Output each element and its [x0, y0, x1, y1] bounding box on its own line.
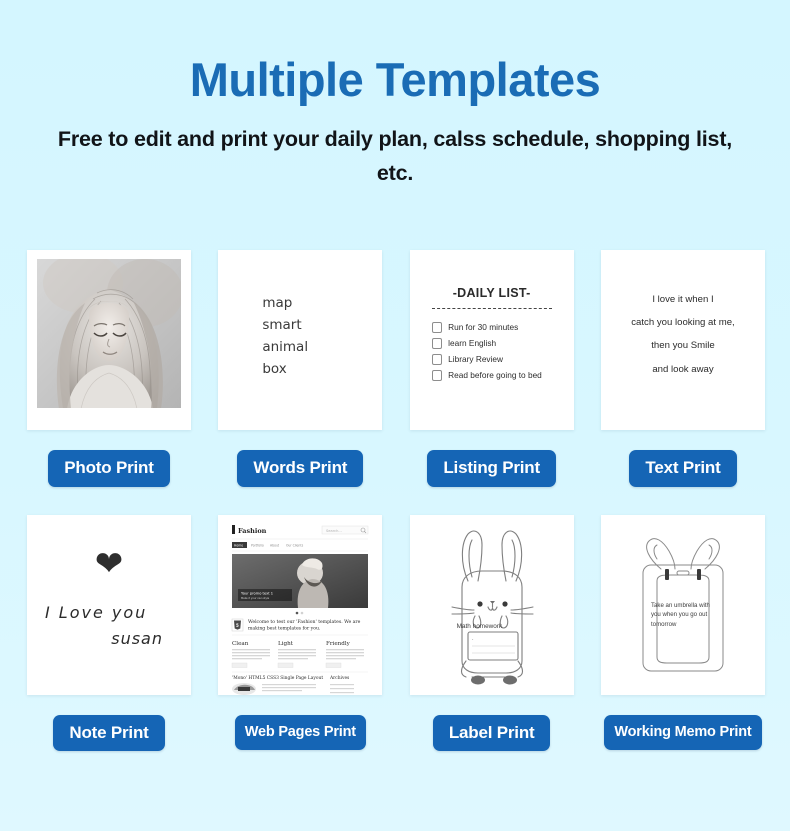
- preview-card-working-memo-print[interactable]: Take an umbrella with you when you go ou…: [601, 515, 765, 695]
- svg-text:Home: Home: [234, 543, 243, 547]
- preview-card-label-print[interactable]: · Math homework: [410, 515, 574, 695]
- template-row-1: Photo Print map smart animal box Words P…: [27, 250, 765, 487]
- checkbox-icon: [432, 370, 443, 381]
- svg-text:Friendly: Friendly: [326, 641, 351, 647]
- word-item: smart: [262, 315, 308, 337]
- preview-card-words-print[interactable]: map smart animal box: [218, 250, 382, 430]
- svg-text:making best templates for you.: making best templates for you.: [248, 625, 321, 631]
- words-print-button[interactable]: Words Print: [237, 450, 363, 487]
- page-subtitle: Free to edit and print your daily plan, …: [45, 123, 745, 190]
- template-cell-working-memo-print: Take an umbrella with you when you go ou…: [601, 515, 765, 752]
- svg-text:Make it your own style: Make it your own style: [241, 596, 270, 600]
- preview-card-text-print[interactable]: I love it when I catch you looking at me…: [601, 250, 765, 430]
- page-root: Multiple Templates Free to edit and prin…: [0, 0, 790, 831]
- word-item: map: [262, 293, 308, 315]
- todo-list: Run for 30 minutes learn English Library…: [432, 322, 560, 386]
- template-row-2: ❤ I Love you susan Note Print Fashion: [27, 515, 765, 752]
- daily-list-title: -DAILY LIST-: [410, 286, 574, 300]
- preview-card-web-pages-print[interactable]: Fashion Search... Home Portfolio About O: [218, 515, 382, 695]
- todo-label: Library Review: [448, 354, 503, 364]
- list-item: Read before going to bed: [432, 370, 560, 381]
- list-item: learn English: [432, 338, 560, 349]
- webpage-preview: Fashion Search... Home Portfolio About O: [218, 515, 382, 695]
- checkbox-icon: [432, 338, 443, 349]
- note-print-button[interactable]: Note Print: [53, 715, 164, 752]
- template-cell-listing-print: -DAILY LIST- Run for 30 minutes learn En…: [410, 250, 574, 487]
- preview-card-note-print[interactable]: ❤ I Love you susan: [27, 515, 191, 695]
- photo-print-button[interactable]: Photo Print: [48, 450, 169, 487]
- template-cell-note-print: ❤ I Love you susan Note Print: [27, 515, 191, 752]
- preview-card-photo-print[interactable]: [27, 250, 191, 430]
- label-text: Math homework: [457, 623, 502, 630]
- photo-preview-image: [37, 259, 181, 408]
- list-item: Run for 30 minutes: [432, 322, 560, 333]
- svg-text:Search...: Search...: [326, 529, 342, 533]
- text-line: I love it when I: [609, 288, 757, 311]
- svg-text:Fashion: Fashion: [238, 527, 267, 535]
- memo-text: Take an umbrella with you when you go ou…: [651, 601, 715, 631]
- list-item: Library Review: [432, 354, 560, 365]
- listing-print-button[interactable]: Listing Print: [427, 450, 556, 487]
- svg-text:5: 5: [236, 623, 239, 628]
- text-preview: I love it when I catch you looking at me…: [609, 288, 757, 381]
- text-line: and look away: [609, 358, 757, 381]
- text-line: then you Smile: [609, 334, 757, 357]
- svg-text:Portfolio: Portfolio: [251, 543, 264, 547]
- web-pages-print-button[interactable]: Web Pages Print: [235, 715, 366, 751]
- heart-icon: ❤: [27, 547, 191, 581]
- checkbox-icon: [432, 354, 443, 365]
- text-line: catch you looking at me,: [609, 311, 757, 334]
- working-memo-print-button[interactable]: Working Memo Print: [604, 715, 761, 751]
- todo-label: learn English: [448, 338, 496, 348]
- svg-text:Our Clients: Our Clients: [286, 543, 304, 547]
- svg-text:Welcome to test our 'Fashion': Welcome to test our 'Fashion' templates.…: [248, 619, 361, 625]
- note-line-2: susan: [111, 629, 163, 648]
- todo-label: Read before going to bed: [448, 370, 542, 380]
- template-cell-text-print: I love it when I catch you looking at me…: [601, 250, 765, 487]
- template-cell-web-pages-print: Fashion Search... Home Portfolio About O: [218, 515, 382, 752]
- text-print-button[interactable]: Text Print: [629, 450, 736, 487]
- template-cell-words-print: map smart animal box Words Print: [218, 250, 382, 487]
- word-item: animal: [262, 337, 308, 359]
- word-item: box: [262, 359, 308, 381]
- bunny-label-outline: ·: [410, 515, 574, 695]
- template-cell-label-print: · Math homework Label Print: [410, 515, 574, 752]
- svg-text:Light: Light: [278, 641, 294, 647]
- svg-text:'Mono' HTML5 CSS3 Single Page: 'Mono' HTML5 CSS3 Single Page Layout: [232, 676, 323, 681]
- svg-text:Archives: Archives: [329, 676, 350, 681]
- template-cell-photo-print: Photo Print: [27, 250, 191, 487]
- svg-text:About: About: [270, 543, 280, 547]
- page-title: Multiple Templates: [0, 0, 790, 104]
- preview-card-listing-print[interactable]: -DAILY LIST- Run for 30 minutes learn En…: [410, 250, 574, 430]
- label-print-button[interactable]: Label Print: [433, 715, 551, 752]
- todo-label: Run for 30 minutes: [448, 322, 518, 332]
- svg-text:Clean: Clean: [232, 641, 249, 647]
- divider: [432, 308, 552, 309]
- checkbox-icon: [432, 322, 443, 333]
- word-list: map smart animal box: [262, 293, 308, 380]
- svg-text:Your promo text 1: Your promo text 1: [241, 591, 273, 595]
- note-line-1: I Love you: [45, 603, 147, 622]
- template-grid: Photo Print map smart animal box Words P…: [27, 250, 765, 751]
